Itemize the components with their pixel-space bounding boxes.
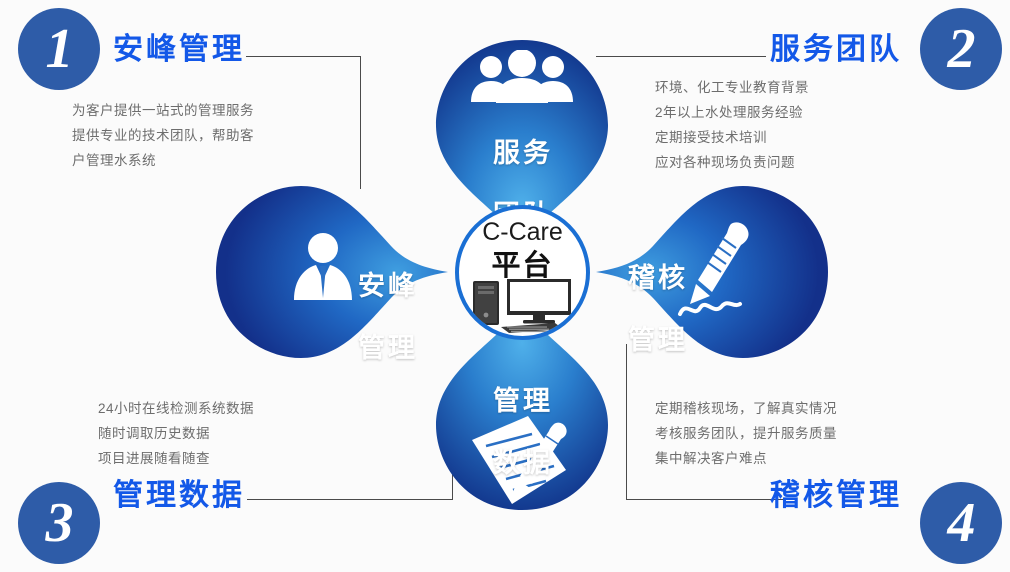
infographic-canvas: 1 2 3 4 安峰管理 服务团队 管理数据 稽核管理 为客户提供一站式的管理服…	[0, 0, 1010, 572]
petal-label-bottom-line-2: 数据	[480, 448, 566, 479]
desktop-computer-icon	[471, 277, 575, 340]
center-hub: C-Care 平台	[455, 205, 590, 340]
petal-label-bottom: 管理 数据	[480, 355, 566, 510]
petal-label-top-line-1: 服务	[480, 138, 566, 169]
petal-label-left-line-2: 管理	[345, 333, 431, 364]
petal-label-right-line-1: 稽核	[615, 263, 701, 294]
petal-label-bottom-line-1: 管理	[480, 386, 566, 417]
petal-label-left: 安峰 管理	[345, 240, 431, 395]
petal-label-right: 稽核 管理	[615, 232, 701, 387]
petal-label-right-line-2: 管理	[615, 325, 701, 356]
petal-label-left-line-1: 安峰	[345, 271, 431, 302]
people-group-icon	[466, 50, 578, 110]
